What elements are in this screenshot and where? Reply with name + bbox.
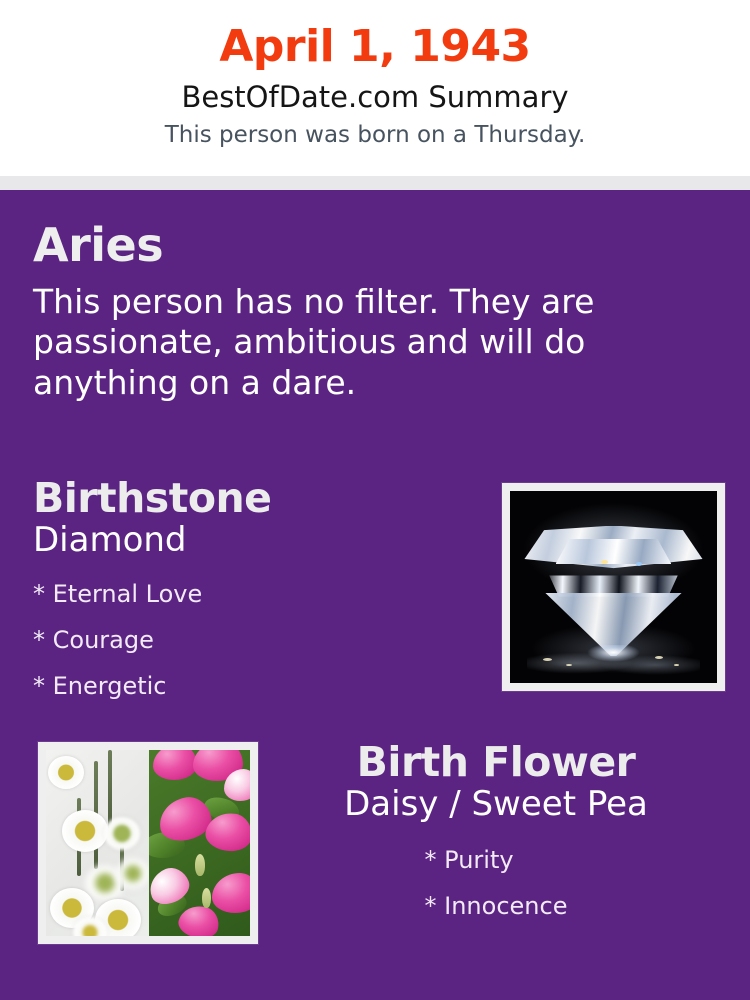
birthstone-name: Diamond [33, 522, 271, 559]
birth-flower-name: Daisy / Sweet Pea [292, 786, 700, 823]
birthstone-section: Birthstone Diamond * Eternal Love * Cour… [0, 478, 750, 709]
birth-flower-heading: Birth Flower [292, 742, 700, 784]
birth-flower-trait-list: * Purity * Innocence [425, 837, 568, 929]
header-divider [0, 176, 750, 190]
birth-flower-section: Birth Flower Daisy / Sweet Pea * Purity … [0, 742, 750, 944]
weekday-note: This person was born on a Thursday. [0, 120, 750, 151]
diamond-icon [510, 491, 717, 683]
list-item: * Energetic [33, 663, 271, 709]
zodiac-description: This person has no filter. They are pass… [33, 282, 653, 403]
summary-body: Aries This person has no filter. They ar… [0, 190, 750, 1000]
site-summary-label: BestOfDate.com Summary [0, 79, 750, 117]
diamond-table-facet [556, 539, 672, 564]
page-title: April 1, 1943 [0, 22, 750, 73]
diamond-fleck [674, 664, 679, 666]
zodiac-sign-name: Aries [33, 222, 716, 268]
list-item: * Courage [33, 617, 271, 663]
zodiac-section: Aries This person has no filter. They ar… [0, 190, 750, 403]
birthstone-heading: Birthstone [33, 478, 271, 520]
birthstone-image-frame [502, 483, 725, 691]
birthstone-trait-list: * Eternal Love * Courage * Energetic [33, 571, 271, 709]
birth-flower-text-block: Birth Flower Daisy / Sweet Pea * Purity … [258, 742, 700, 929]
diamond-fleck [636, 562, 642, 566]
diamond-fleck [566, 664, 572, 666]
sweet-pea-photo-half [149, 750, 250, 936]
list-item: * Purity [425, 837, 568, 883]
list-item: * Innocence [425, 883, 568, 929]
birth-flower-image-frame [38, 742, 258, 944]
page-header: April 1, 1943 BestOfDate.com Summary Thi… [0, 0, 750, 176]
daisy-photo-half [46, 750, 149, 936]
birthstone-text-block: Birthstone Diamond * Eternal Love * Cour… [33, 478, 271, 709]
list-item: * Eternal Love [33, 571, 271, 617]
flower-photo-icon [46, 750, 250, 936]
diamond-sparkle [578, 645, 648, 670]
